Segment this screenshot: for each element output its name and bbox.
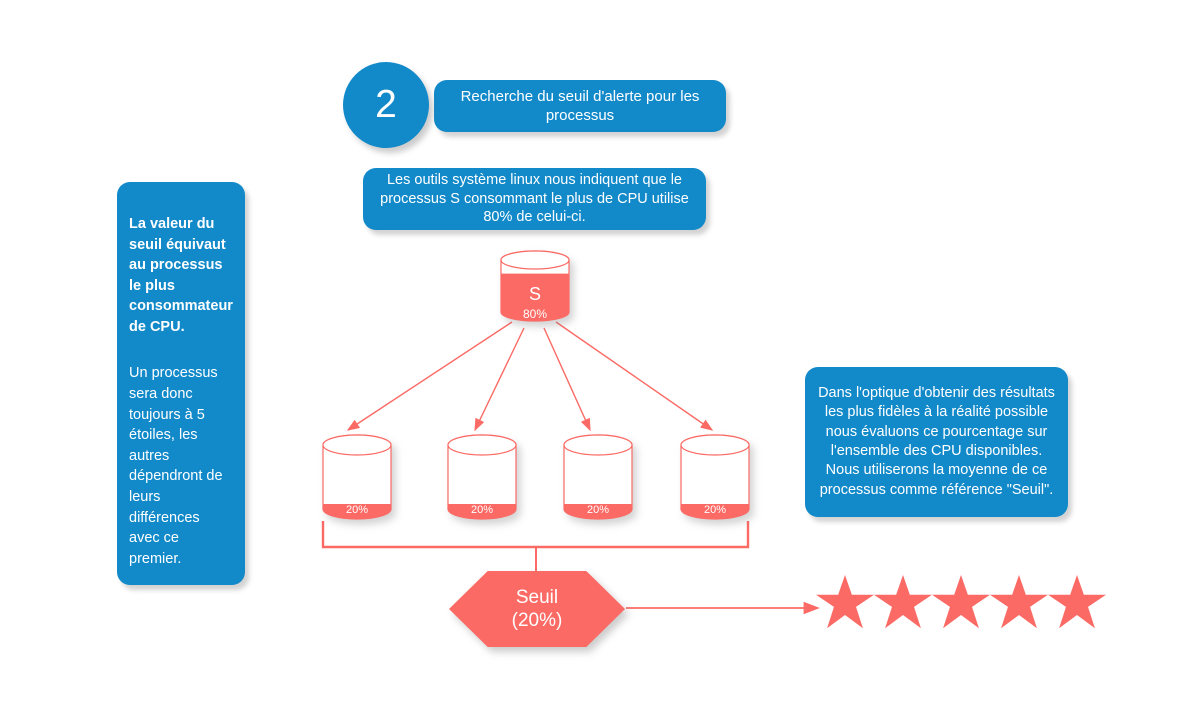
star-icon — [874, 575, 932, 631]
threshold-label: Seuil — [516, 586, 558, 609]
arrow-s-to-cpu-1 — [348, 322, 512, 430]
star-icon — [990, 575, 1048, 631]
arrow-s-to-cpu-4 — [556, 322, 712, 430]
star-rating — [816, 575, 1106, 631]
arrow-s-to-cpu-3 — [544, 328, 590, 430]
note-top-callout: Les outils système linux nous indiquent … — [363, 168, 706, 230]
star-icon — [932, 575, 990, 631]
note-right-text: Dans l'optique d'obtenir des résultats l… — [817, 384, 1056, 500]
step-number: 2 — [375, 83, 397, 127]
arrow-s-to-cpu-2 — [475, 328, 524, 430]
threshold-hexagon-shape: Seuil (20%) — [449, 571, 625, 647]
star-icon — [1048, 575, 1106, 631]
cylinder-cpu: 20% — [322, 434, 392, 520]
diagram-canvas: 2 Recherche du seuil d'alerte pour les p… — [0, 0, 1178, 718]
threshold-hexagon: Seuil (20%) — [449, 571, 625, 647]
step-title-text: Recherche du seuil d'alerte pour les pro… — [448, 87, 712, 125]
threshold-value: (20%) — [512, 609, 563, 632]
note-left-callout: La valeur du seuil équivaut au processus… — [117, 182, 245, 585]
cylinder-source-process: S 80% — [500, 250, 570, 322]
step-number-badge: 2 — [343, 62, 429, 148]
note-left-heading: La valeur du seuil équivaut au processus… — [129, 214, 233, 337]
cylinder-cpu: 20% — [447, 434, 517, 520]
star-icon — [816, 575, 874, 631]
note-top-text: Les outils système linux nous indiquent … — [375, 171, 694, 227]
cylinder-cpu: 20% — [680, 434, 750, 520]
bracket-cpu-group — [323, 521, 748, 547]
note-right-callout: Dans l'optique d'obtenir des résultats l… — [805, 367, 1068, 517]
cylinder-cpu: 20% — [563, 434, 633, 520]
step-title-banner: Recherche du seuil d'alerte pour les pro… — [434, 80, 726, 132]
note-left-spacer — [129, 337, 233, 363]
note-left-body: Un processus sera donc toujours à 5 étoi… — [129, 363, 233, 569]
